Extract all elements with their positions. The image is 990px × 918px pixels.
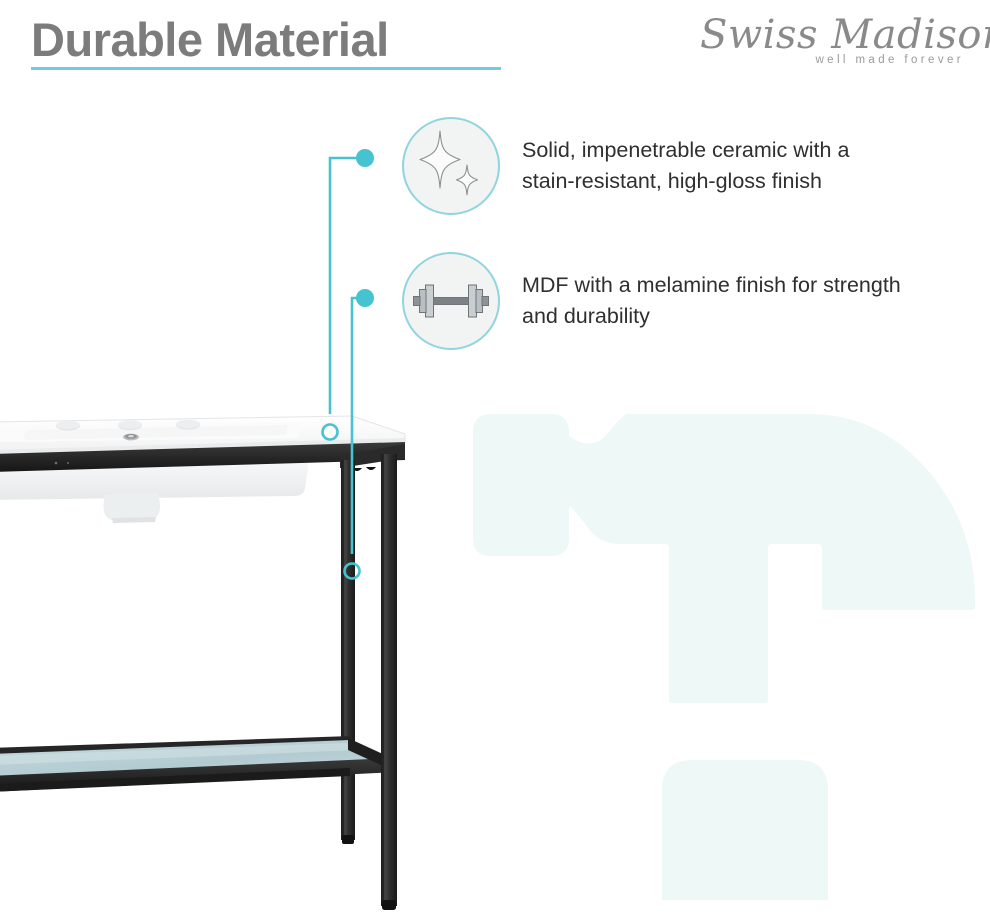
title-underline-divider: [31, 67, 501, 70]
brand-wordmark: Swiss Madison®: [700, 14, 974, 56]
brand-logo: Swiss Madison® well made forever: [700, 14, 974, 72]
product-illustration-console-sink: [0, 380, 430, 918]
brand-wordmark-text: Swiss Madison: [700, 12, 990, 58]
callout-mdf: MDF with a melamine finish for strength …: [402, 252, 902, 350]
brand-tagline: well made forever: [815, 54, 964, 66]
infographic-canvas: Durable Material Swiss Madison® well mad…: [0, 0, 990, 918]
tempered-glass-shelf: [0, 736, 396, 792]
leader-line-ceramic: [330, 158, 361, 414]
metal-frame-mid-leg: [113, 784, 126, 866]
page-title: Durable Material: [31, 16, 389, 63]
leader-dot-mdf: [356, 289, 374, 307]
dumbbell-icon: [413, 274, 489, 328]
callout-ceramic-icon-circle: [402, 117, 500, 215]
metal-frame-front-leg: [381, 454, 397, 910]
callout-mdf-text: MDF with a melamine finish for strength …: [522, 270, 902, 331]
callout-ceramic-text: Solid, impenetrable ceramic with a stain…: [522, 135, 902, 196]
callout-mdf-icon-circle: [402, 252, 500, 350]
callout-ceramic: Solid, impenetrable ceramic with a stain…: [402, 117, 902, 215]
sparkle-shine-icon: [414, 129, 488, 203]
metal-frame-rear-leg: [341, 460, 355, 844]
leader-dot-ceramic: [356, 149, 374, 167]
